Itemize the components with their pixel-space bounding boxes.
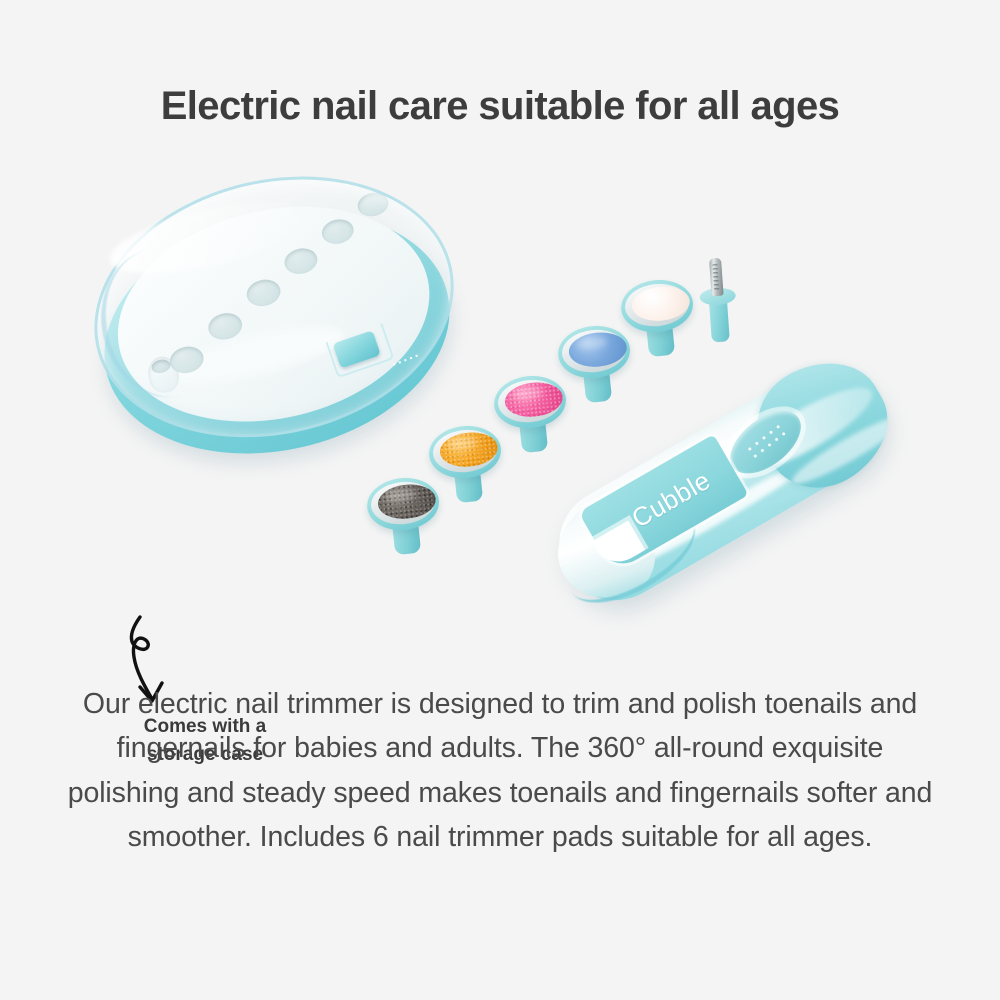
pad-metal-ring: [623, 281, 691, 329]
pad-metal-ring: [369, 479, 437, 527]
attachment-pad-orange: [426, 414, 507, 507]
pad-surface: [376, 482, 437, 522]
pad-surface: [438, 430, 499, 470]
pad-head: [556, 322, 633, 381]
pad-metal-ring: [431, 427, 499, 475]
pad-metal-ring: [560, 327, 628, 375]
pad-surface: [503, 380, 564, 420]
page-title: Electric nail care suitable for all ages: [0, 84, 1000, 128]
pad-head: [492, 372, 569, 431]
pad-surface: [630, 284, 691, 324]
bit-metal-tip: [709, 258, 724, 297]
speed-indicator-dots: [743, 422, 787, 462]
pad-head: [427, 422, 504, 481]
attachment-cone-bit: [695, 255, 741, 348]
pad-head: [365, 474, 442, 533]
pad-metal-ring: [496, 377, 564, 425]
description-paragraph: Our electric nail trimmer is designed to…: [60, 682, 940, 860]
attachment-pad-cream: [618, 268, 699, 361]
product-feature-image: Electric nail care suitable for all ages: [0, 0, 1000, 1000]
pad-surface: [567, 330, 628, 370]
storage-case: [68, 143, 482, 497]
pad-head: [619, 276, 696, 335]
product-scene: Cubble Comes with a storage case: [0, 160, 1000, 660]
case-clear-lid: [68, 142, 480, 471]
